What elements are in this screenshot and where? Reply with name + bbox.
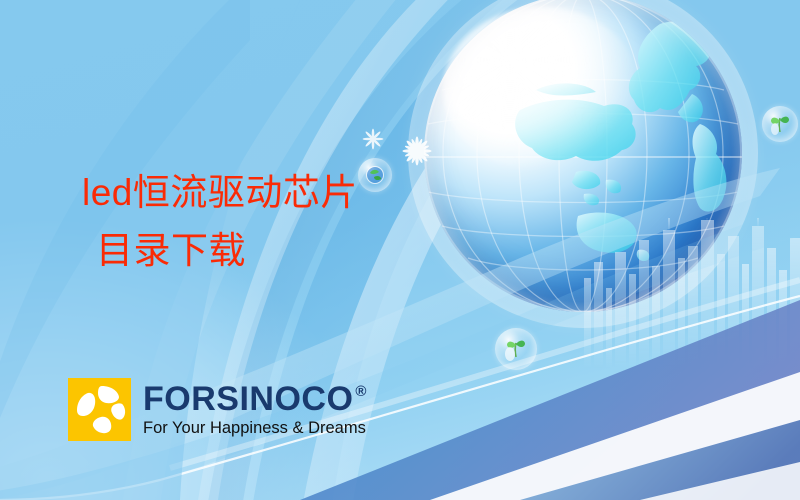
sparkle-star-2 [362,128,384,155]
bubble-sprout [495,328,537,370]
brand-name-text: FORSINOCO [143,381,353,417]
brand-name: FORSINOCO ® [143,381,367,417]
flower-pinwheel-icon [68,378,131,441]
registered-mark-icon: ® [355,383,367,401]
bubble-globe [358,158,392,192]
bubble-leaf [762,106,798,142]
green-sprout-icon [495,328,537,370]
headline-line-2: 目录下载 [82,222,358,280]
headline-line-1: led恒流驱动芯片 [82,164,358,222]
mini-globe-icon [358,158,392,192]
sparkle-star-1 [402,136,432,171]
brand-logo: FORSINOCO ® For Your Happiness & Dreams [68,378,367,441]
page-title: led恒流驱动芯片 目录下载 [82,164,358,280]
green-leaf-icon [762,106,798,142]
promo-banner: led恒流驱动芯片 目录下载 FORSINOCO ® For Your Happ… [0,0,800,500]
brand-text: FORSINOCO ® For Your Happiness & Dreams [143,378,367,438]
brand-tagline: For Your Happiness & Dreams [143,418,367,438]
